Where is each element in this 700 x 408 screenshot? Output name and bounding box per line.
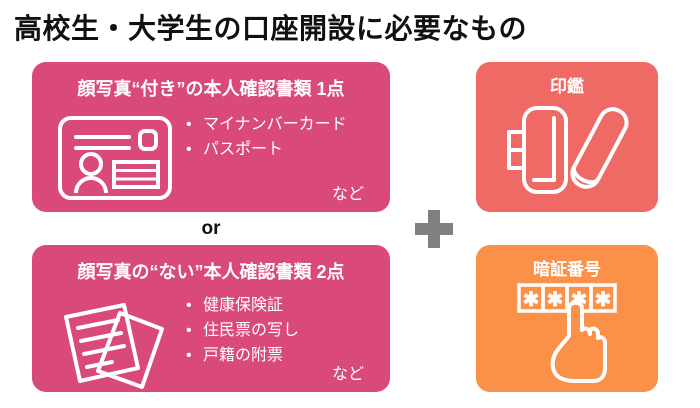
list-item: 住民票の写し	[186, 318, 299, 343]
pin-digit-boxes: ✱ ✱ ✱ ✱	[519, 285, 615, 311]
card-photo-id-title: 顔写真“付き”の本人確認書類 1点	[32, 62, 390, 101]
card-no-photo-id-title: 顔写真の“ない”本人確認書類 2点	[32, 245, 390, 284]
card-no-photo-id-body: 健康保険証 住民票の写し 戸籍の附票 など	[32, 295, 390, 392]
card-pin: 暗証番号 ✱ ✱ ✱ ✱	[476, 245, 658, 392]
id-card-icon	[56, 114, 174, 202]
plus-icon	[410, 205, 458, 253]
card-pin-title: 暗証番号	[476, 245, 658, 281]
card-seal-body	[476, 102, 658, 198]
list-item: 健康保険証	[186, 293, 299, 318]
svg-text:✱: ✱	[595, 289, 612, 311]
list-item: 戸籍の附票	[186, 343, 299, 368]
card-seal-title: 印鑑	[476, 62, 658, 98]
plus-icon-vertical-bar	[428, 210, 440, 248]
documents-icon	[54, 299, 172, 391]
no-photo-id-item-list: 健康保険証 住民票の写し 戸籍の附票	[186, 293, 299, 368]
svg-text:✱: ✱	[523, 289, 540, 311]
list-item: パスポート	[186, 137, 347, 162]
card-no-photo-id: 顔写真の“ない”本人確認書類 2点 健康保険証 住民票の写し 戸籍の附票 など	[32, 245, 390, 392]
hanko-stamp-icon	[497, 102, 637, 198]
page-title: 高校生・大学生の口座開設に必要なもの	[14, 10, 527, 48]
card-seal: 印鑑	[476, 62, 658, 212]
svg-text:✱: ✱	[547, 289, 564, 311]
no-photo-id-note: など	[332, 360, 364, 384]
list-item: マイナンバーカード	[186, 112, 347, 137]
card-pin-body: ✱ ✱ ✱ ✱	[476, 281, 658, 383]
photo-id-item-list: マイナンバーカード パスポート	[186, 112, 347, 162]
card-photo-id: 顔写真“付き”の本人確認書類 1点 マイナンバーカード パスポート など	[32, 62, 390, 212]
or-separator: or	[32, 213, 390, 245]
photo-id-note: など	[332, 180, 364, 204]
card-photo-id-body: マイナンバーカード パスポート など	[32, 112, 390, 212]
pin-entry-hand-icon: ✱ ✱ ✱ ✱	[497, 281, 637, 383]
